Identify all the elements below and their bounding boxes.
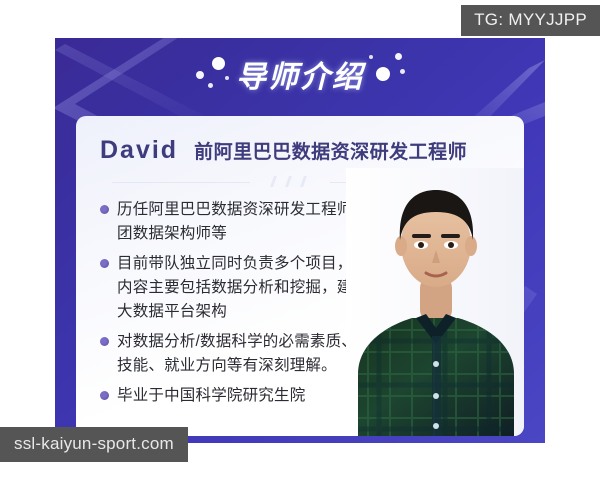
instructor-role: 前阿里巴巴数据资深研发工程师 — [194, 137, 467, 164]
page-title: 导师介绍 — [236, 52, 364, 96]
instructor-card: 导师介绍 David 前阿里巴巴数据资深研发工程师 历任阿里巴巴数据资深研发工程… — [55, 38, 545, 443]
bubble-decor-left-icon — [192, 51, 236, 97]
bullet-dot-icon — [100, 391, 109, 400]
profile-panel: David 前阿里巴巴数据资深研发工程师 历任阿里巴巴数据资深研发工程师、美团数… — [76, 116, 524, 436]
bullet-dot-icon — [100, 205, 109, 214]
list-item-text: 毕业于中国科学院研究生院 — [117, 384, 305, 408]
banner-title-bar: 导师介绍 — [55, 38, 545, 110]
site-watermark: ssl-kaiyun-sport.com — [0, 427, 188, 462]
bullet-dot-icon — [100, 337, 109, 346]
bubble-decor-right-icon — [364, 51, 408, 97]
instructor-name: David — [100, 136, 178, 165]
instructor-photo — [346, 168, 524, 436]
telegram-watermark: TG: MYYJJPP — [461, 5, 600, 36]
name-row: David 前阿里巴巴数据资深研发工程师 — [100, 136, 467, 165]
bullet-dot-icon — [100, 259, 109, 268]
